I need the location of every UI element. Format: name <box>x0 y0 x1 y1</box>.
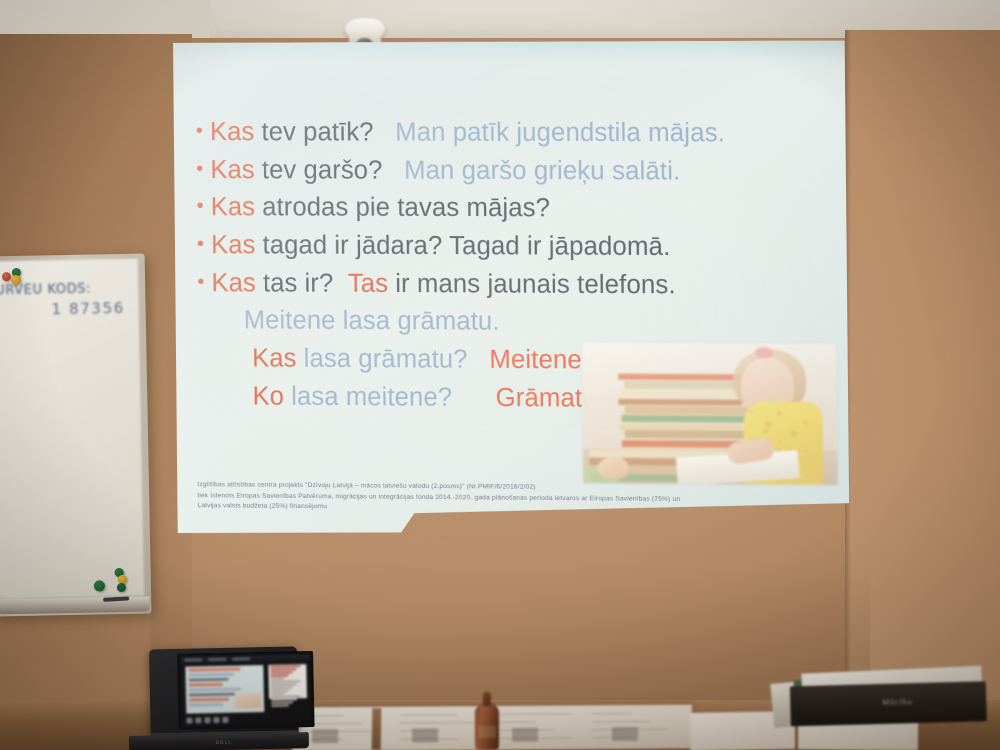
laptop-notes-row <box>271 687 293 689</box>
brown-bottle <box>475 692 499 750</box>
presentation-slide: •Kas tev patīk? Man patīk jugendstila mā… <box>173 40 849 541</box>
classroom-photo: URVEU KODS: 1 87356 •Kas tev patīk? Man … <box>0 0 1000 750</box>
slide-line-1-part-2: tev patīk? <box>254 115 381 150</box>
laptop-notes-row <box>270 669 296 671</box>
slide-line-7-part-2: lasa grāmatu? <box>296 342 489 378</box>
bullet-icon: • <box>197 272 204 292</box>
laptop-notes-row <box>271 695 301 697</box>
paper-text-line <box>400 714 458 715</box>
slide-line-4: •Kas tagad ir jādara? Tagad ir jāpadomā. <box>197 228 824 265</box>
laptop-slide-text-row <box>188 668 240 672</box>
slide-line-4-part-1: Kas <box>211 228 256 263</box>
laptop-slide-text-row <box>189 698 229 702</box>
projected-slide-area: •Kas tev patīk? Man patīk jugendstila mā… <box>173 40 856 546</box>
laptop-notes-row <box>271 681 301 683</box>
slide-line-1-part-3: Man patīk jugendstila mājas. <box>381 115 726 151</box>
slide-line-8-part-1: Ko <box>252 379 284 414</box>
slide-line-1: •Kas tev patīk? Man patīk jugendstila mā… <box>196 115 823 151</box>
slide-line-7-part-3: Meitene <box>489 343 582 378</box>
laptop-slide-text-row <box>189 678 229 682</box>
paper-image-block <box>512 728 538 742</box>
slide-line-5-part-3: Tas <box>348 266 389 301</box>
laptop-app-toolbar[interactable] <box>180 654 310 664</box>
laptop-notes-row <box>271 702 293 704</box>
laptop-slide-photo <box>235 693 261 709</box>
whiteboard: URVEU KODS: 1 87356 <box>0 253 151 616</box>
laptop-slide-text-row <box>188 673 234 677</box>
slide-line-3-part-2: atrodas pie tavas mājas? <box>255 191 550 227</box>
laptop-slide-preview[interactable] <box>185 665 264 714</box>
bullet-icon: • <box>196 159 203 179</box>
paper-text-line <box>400 722 476 724</box>
bullet-icon: • <box>197 234 204 254</box>
slide-line-8-part-3: Grāmatu <box>496 381 597 417</box>
laptop[interactable]: DELL <box>127 646 309 750</box>
slide-line-5-part-2: tas ir? <box>256 266 348 301</box>
laptop-notes-row <box>271 699 297 701</box>
laptop-notes-row <box>270 666 300 668</box>
whiteboard-text-line-2: 1 87356 <box>51 298 151 318</box>
paper-text-line <box>592 721 650 722</box>
paper-image-block <box>612 727 638 741</box>
whiteboard-text-line-1: URVEU KODS: <box>0 281 140 299</box>
slide-line-1-part-1: Kas <box>210 115 255 150</box>
laptop-slide-text-row <box>189 688 241 692</box>
laptop-notes-row <box>271 684 297 686</box>
laptop-bezel <box>177 651 315 730</box>
slide-line-5-part-1: Kas <box>211 266 256 301</box>
document-tray: Mācību <box>771 659 990 725</box>
slide-line-3: •Kas atrodas pie tavas mājas? <box>196 190 823 227</box>
slide-line-2-part-3: Man garšo grieķu salāti. <box>390 153 681 189</box>
laptop-slide-text-row <box>189 683 223 687</box>
paper-text-line <box>592 713 632 714</box>
laptop-notes-row <box>271 705 289 707</box>
laptop-notes-pane[interactable] <box>268 664 307 699</box>
magnet-green-4 <box>117 583 126 592</box>
tray-label: Mācību <box>882 697 913 707</box>
slide-line-2: •Kas tev garšo? Man garšo grieķu salāti. <box>196 153 823 190</box>
laptop-notes-row <box>271 675 289 677</box>
laptop-notes-row <box>271 690 289 692</box>
laptop-slide-text-row <box>189 693 235 697</box>
laptop-notes-row <box>271 693 285 695</box>
laptop-screen[interactable] <box>180 654 311 727</box>
bullet-icon: • <box>196 121 203 141</box>
slide-line-6: Meitene lasa grāmatu. <box>198 303 825 341</box>
laptop-slide-text-row <box>189 703 223 707</box>
bullet-icon: • <box>197 196 204 216</box>
slide-line-5-part-4: ir mans jaunais telefons. <box>388 267 676 303</box>
slide-line-2-part-2: tev garšo? <box>255 153 390 188</box>
paper-text-line <box>496 713 572 715</box>
whiteboard-surface: URVEU KODS: 1 87356 <box>0 259 144 599</box>
paper-divider <box>372 708 382 750</box>
slide-line-2-part-1: Kas <box>210 153 255 188</box>
slide-line-5: •Kas tas ir? Tas ir mans jaunais telefon… <box>197 266 824 304</box>
slide-line-4-part-2: tagad ir jādara? Tagad ir jāpadomā. <box>255 228 670 264</box>
slide-line-3-part-1: Kas <box>211 190 256 225</box>
paper-text-line <box>496 722 536 723</box>
slide-line-6-part-1: Meitene lasa grāmatu. <box>244 304 500 340</box>
slide-line-7-part-1: Kas <box>252 341 297 376</box>
laptop-notes-row <box>271 678 285 680</box>
laptop-brand-logo: DELL <box>213 740 235 746</box>
paper-image-block <box>312 729 338 743</box>
laptop-lid <box>149 646 299 737</box>
slide-line-8-part-2: lasa meitene? <box>284 379 496 415</box>
paper-image-block <box>412 728 438 742</box>
laptop-notes-row <box>270 672 292 674</box>
slide-top-band <box>173 40 845 63</box>
laptop-slide-controls[interactable] <box>186 715 256 723</box>
slide-photo-girl-reading <box>582 342 837 485</box>
